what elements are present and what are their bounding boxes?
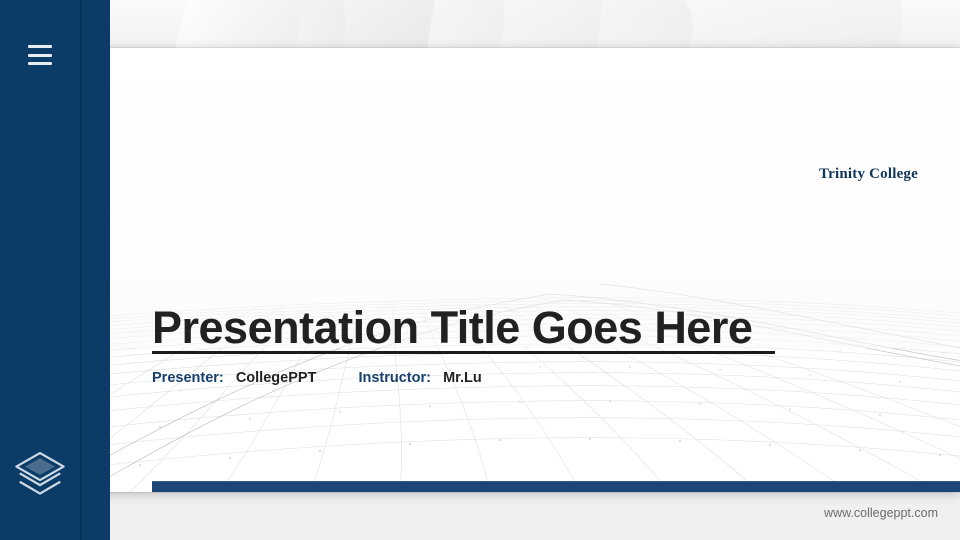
- footer-accent-bar: [152, 481, 960, 492]
- layers-stack-logo-icon[interactable]: [13, 448, 67, 502]
- hamburger-bar-3: [28, 62, 52, 65]
- backdrop-top-gradient: [0, 0, 960, 52]
- instructor-label: Instructor:: [358, 370, 431, 386]
- site-url-footer: www.collegeppt.com: [824, 506, 938, 520]
- screenshot-root: Trinity College Presentation Title Goes …: [0, 0, 960, 540]
- left-sidebar: [0, 0, 110, 540]
- presenter-instructor-line: Presenter: CollegePPT Instructor: Mr.Lu: [152, 370, 482, 386]
- sidebar-panel: [0, 0, 80, 540]
- hamburger-bar-1: [28, 45, 52, 48]
- hamburger-menu-icon[interactable]: [28, 45, 52, 65]
- title-divider: [152, 351, 775, 354]
- hamburger-bar-2: [28, 54, 52, 57]
- presentation-slide[interactable]: Trinity College Presentation Title Goes …: [80, 48, 960, 492]
- instructor-value: Mr.Lu: [443, 370, 482, 386]
- decorative-swoosh-4: [588, 0, 911, 52]
- presenter-label: Presenter:: [152, 370, 224, 386]
- university-wordmark: Trinity College: [819, 166, 918, 183]
- page-title: Presentation Title Goes Here: [152, 303, 752, 353]
- presenter-value: CollegePPT: [236, 370, 317, 386]
